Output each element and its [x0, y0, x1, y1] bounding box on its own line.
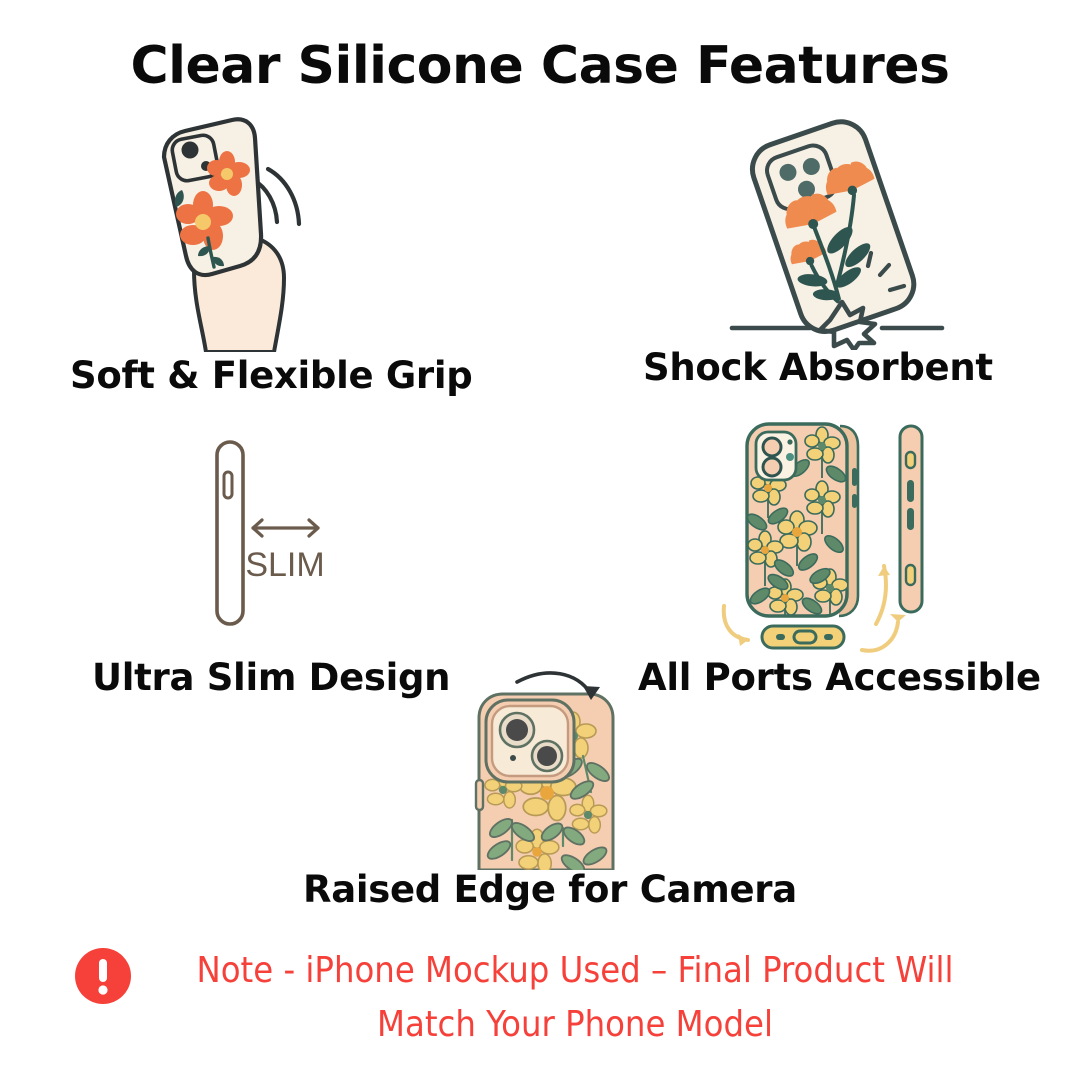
feature-label-soft-flexible-grip: Soft & Flexible Grip — [70, 354, 472, 397]
phone-drop-impact-icon — [714, 110, 964, 350]
infographic-page: Clear Silicone Case Features — [0, 0, 1080, 1080]
exclamation-circle-icon — [75, 948, 131, 1004]
phone-camera-bump-icon — [455, 660, 655, 870]
feature-label-raised-edge-for-camera: Raised Edge for Camera — [303, 868, 797, 911]
feature-label-ultra-slim-design: Ultra Slim Design — [92, 656, 450, 699]
feature-label-shock-absorbent: Shock Absorbent — [643, 346, 993, 389]
note-banner: Note - iPhone Mockup Used – Final Produc… — [0, 944, 1080, 1052]
phone-ports-cutouts-icon — [700, 410, 960, 660]
feature-label-all-ports-accessible: All Ports Accessible — [638, 656, 1041, 699]
phone-side-profile-icon: SLIM — [185, 428, 385, 638]
hand-flexing-phone-case-icon — [128, 112, 378, 352]
note-text: Note - iPhone Mockup Used – Final Produc… — [145, 944, 1005, 1052]
slim-caption: SLIM — [245, 546, 324, 584]
page-title: Clear Silicone Case Features — [0, 36, 1080, 96]
